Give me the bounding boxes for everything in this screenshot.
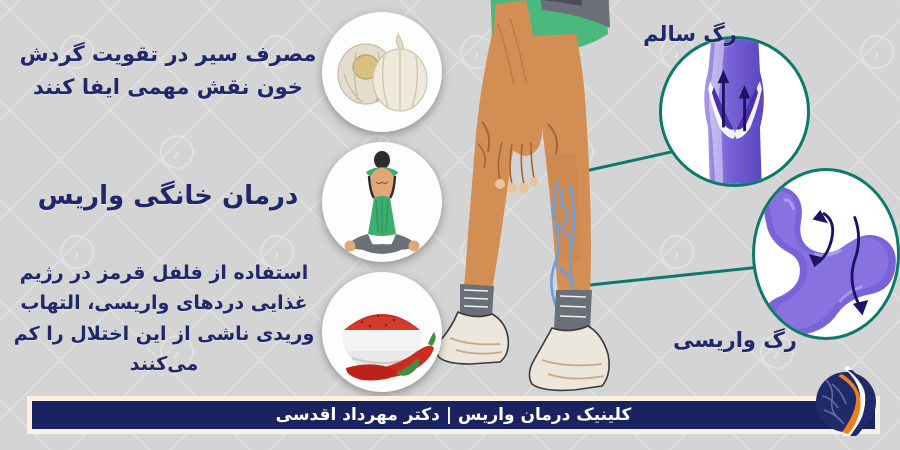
clinic-banner-text: کلینیک درمان واریس | دکتر مهرداد اقدسی [276,405,632,425]
tip-garlic-text: مصرف سیر در تقویت گردش خون نقش مهمی ایفا… [18,38,318,103]
healthy-vein-diagram [659,36,810,187]
tip-pepper-text: استفاده از فلفل قرمز در رژیم غذایی دردها… [8,258,320,380]
varicose-vein-label: رگ واریسی [640,328,830,352]
watermark-logo-icon: ﺑ [160,135,194,169]
page-title: درمان خانگی واریس [18,178,318,214]
clinic-globe-logo [812,358,884,438]
varicose-vein-diagram [752,168,900,340]
garlic-icon [322,12,442,132]
clinic-banner: کلینیک درمان واریس | دکتر مهرداد اقدسی [27,396,880,434]
watermark-logo-icon: ﺑ [660,235,694,269]
red-pepper-icon [322,272,442,392]
yoga-icon [322,142,442,262]
infographic-canvas: ﺑ ﺑ ﺑ ﺑ ﺑ ﺑ ﺑ ﺑ ﺑ ﺑ ﺑ ﺑ ﺑ ﺑ ﺑ ﺑ ﺑ ﺑ [0,0,900,450]
watermark-logo-icon: ﺑ [860,35,894,69]
person-legs-illustration [430,0,660,394]
healthy-vein-label: رگ سالم [600,22,780,46]
